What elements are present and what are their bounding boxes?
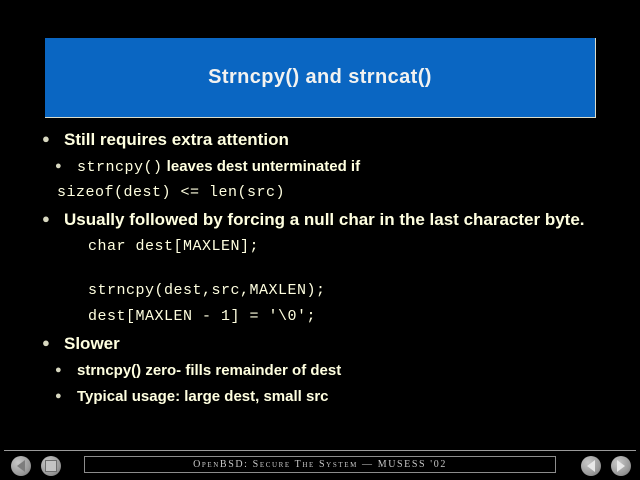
bullet-marker-icon: ● bbox=[55, 161, 77, 172]
triangle-right-icon bbox=[617, 460, 625, 472]
bullet-marker-icon: ● bbox=[42, 212, 64, 225]
bullet-marker-icon: ● bbox=[42, 132, 64, 145]
bullet-marker-icon: ● bbox=[55, 365, 77, 376]
bullet-marker-icon: ● bbox=[55, 391, 77, 402]
code-line: char dest[MAXLEN]; bbox=[88, 238, 640, 264]
bullet-text: strncpy() leaves dest unterminated if bbox=[77, 158, 360, 176]
bullet-text: Slower bbox=[64, 334, 120, 354]
previous-slide-button[interactable] bbox=[581, 456, 601, 476]
code-line: dest[MAXLEN - 1] = '\0'; bbox=[88, 308, 640, 334]
bullet-text: Usually followed by forcing a null char … bbox=[64, 210, 585, 230]
bullet-text: strncpy() zero- fills remainder of dest bbox=[77, 362, 341, 379]
bullet-item: ● strncpy() zero- fills remainder of des… bbox=[55, 362, 640, 388]
bullet-text: Typical usage: large dest, small src bbox=[77, 388, 329, 405]
triangle-left-icon bbox=[587, 460, 595, 472]
bullet-item: ● Usually followed by forcing a null cha… bbox=[42, 210, 640, 238]
next-slide-button[interactable] bbox=[611, 456, 631, 476]
bullet-item: ● Slower bbox=[42, 334, 640, 362]
code-line: sizeof(dest) <= len(src) bbox=[57, 184, 640, 210]
slide-title-banner: Strncpy() and strncat() bbox=[45, 38, 596, 118]
bullet-text-tail: leaves dest unterminated if bbox=[163, 158, 361, 175]
bullet-item: ● Typical usage: large dest, small src bbox=[55, 388, 640, 414]
footer-caption-text: OpenBSD: Secure The System — MUSESS '02 bbox=[193, 459, 447, 470]
code-line: strncpy(dest,src,MAXLEN); bbox=[88, 282, 640, 308]
bullet-item: ● strncpy() leaves dest unterminated if bbox=[55, 158, 640, 184]
inline-code: strncpy() bbox=[77, 159, 163, 176]
triangle-left-icon bbox=[17, 460, 25, 472]
slide-body: ● Still requires extra attention ● strnc… bbox=[0, 130, 640, 430]
footer-caption-box: OpenBSD: Secure The System — MUSESS '02 bbox=[84, 456, 556, 473]
bullet-marker-icon: ● bbox=[42, 336, 64, 349]
presentation-slide: Strncpy() and strncat() ● Still requires… bbox=[0, 0, 640, 480]
square-stop-icon bbox=[45, 460, 57, 472]
slide-title: Strncpy() and strncat() bbox=[208, 66, 432, 89]
footer-divider bbox=[4, 450, 636, 451]
bullet-item: ● Still requires extra attention bbox=[42, 130, 640, 158]
stop-button[interactable] bbox=[41, 456, 61, 476]
bullet-text: Still requires extra attention bbox=[64, 130, 289, 150]
code-blank-line bbox=[0, 264, 640, 282]
first-slide-button[interactable] bbox=[11, 456, 31, 476]
